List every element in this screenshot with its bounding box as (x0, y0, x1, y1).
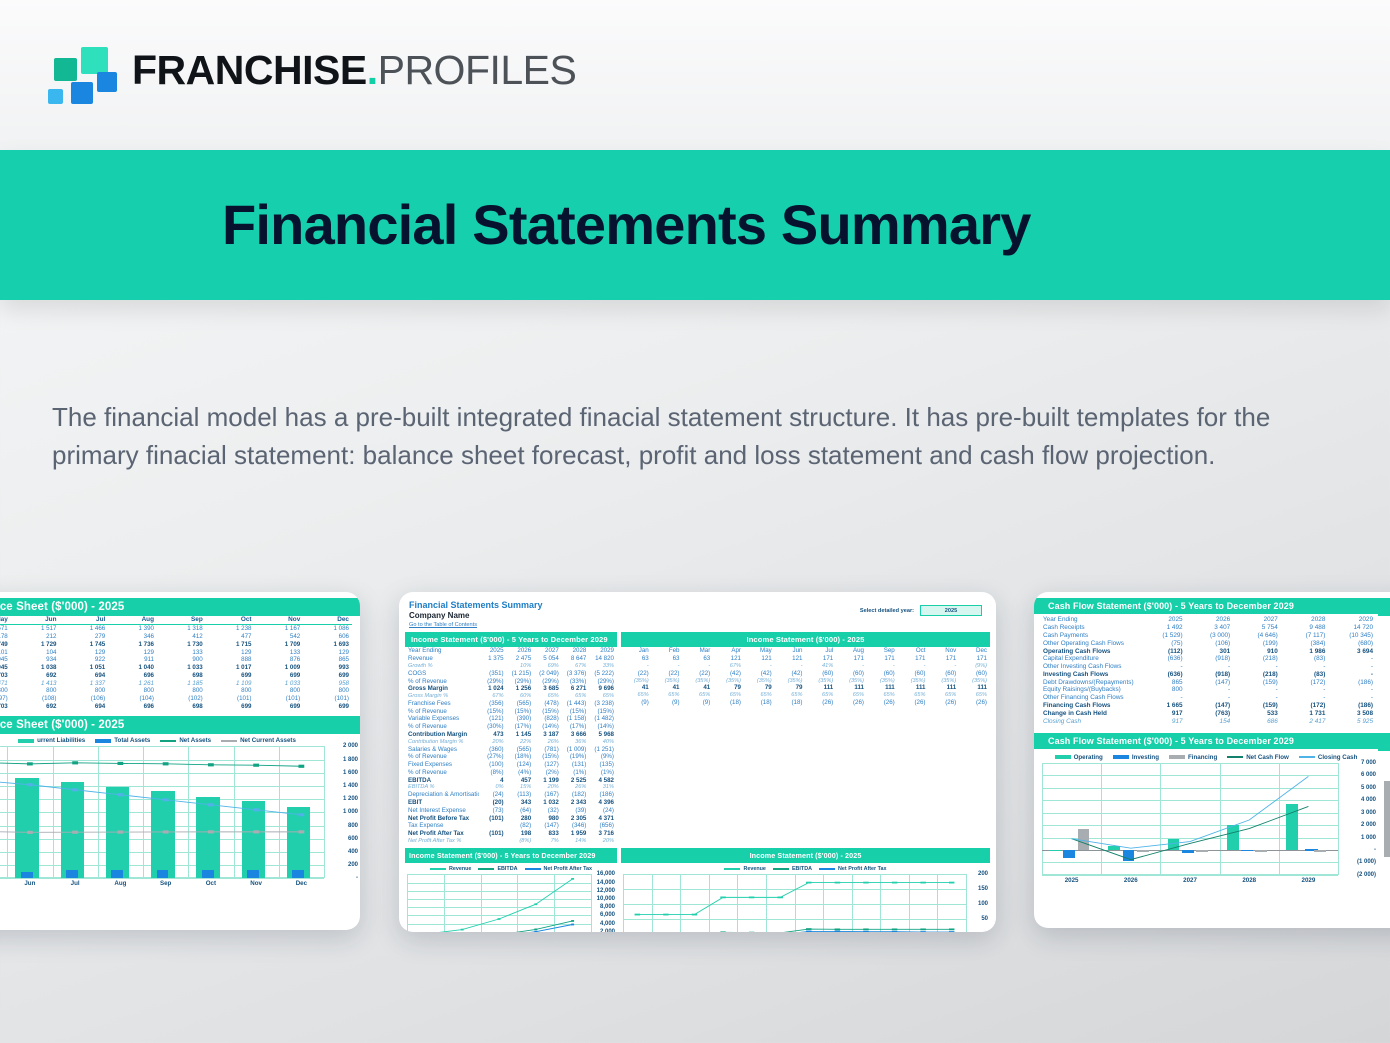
cell: 2 343 (562, 799, 590, 807)
col-header: Sep (157, 616, 206, 624)
cell: 533 (1233, 709, 1281, 717)
cell: 41 (683, 684, 714, 692)
cell: 171 (867, 655, 898, 663)
y-tick-label: 1 000 (1361, 835, 1376, 841)
is-left-chart-legend: RevenueEBITDANet Profit After Tax (405, 863, 617, 874)
marker (806, 928, 811, 930)
y-tick-label: 200 (348, 862, 358, 868)
marker (27, 784, 33, 787)
row-label: COGS (405, 669, 479, 677)
cell: (30%) (479, 723, 507, 731)
marker (208, 804, 214, 807)
x-tick-label: 2028 (1220, 877, 1279, 884)
cell: 917 (1138, 709, 1186, 717)
marker (208, 764, 214, 767)
cell: (60) (806, 669, 837, 677)
cell: 104 (11, 648, 60, 656)
cell: 5 968 (589, 731, 617, 739)
marker (534, 931, 537, 932)
marker (777, 897, 782, 899)
cell: 833 (534, 830, 562, 838)
cell: 20% (589, 838, 617, 845)
table-row: (9)(9)(9)(18)(18)(18)(26)(26)(26)(26)(26… (621, 698, 990, 706)
cell: - (1328, 670, 1376, 678)
cell: 699 (255, 671, 304, 679)
cell: - (1281, 694, 1329, 702)
marker (27, 763, 33, 766)
marker (892, 931, 897, 932)
marker (163, 799, 169, 802)
cell: (106) (1186, 639, 1234, 647)
cell: (390) (507, 715, 535, 723)
cell: (565) (507, 745, 535, 753)
cash-flow-card[interactable]: Cash Flow Statement ($'000) - 5 Years to… (1034, 592, 1390, 928)
cell: (121) (479, 715, 507, 723)
cell: (29%) (479, 677, 507, 685)
marker (72, 762, 78, 765)
cell: May (744, 647, 775, 655)
table-row: 1 731 (1376, 709, 1390, 717)
cell: - (1328, 663, 1376, 671)
legend-item: Net Profit After Tax (819, 866, 887, 872)
col-header: Jun (11, 616, 60, 624)
cell: 888 (206, 656, 255, 664)
cell: 3 716 (589, 830, 617, 838)
cell: (147) (1186, 702, 1234, 710)
cell: - (1281, 663, 1329, 671)
cell: 1 959 (562, 830, 590, 838)
table-row: EBITDA %0%15%20%26%31% (405, 784, 617, 791)
cell: 41 (652, 684, 683, 692)
page-header: FRANCHISE.PROFILES (0, 0, 1390, 150)
cell: (19%) (562, 753, 590, 761)
row-label: Operating Cash Flows (1040, 647, 1138, 655)
cell: (1%) (589, 769, 617, 777)
cell: 694 (60, 703, 109, 711)
cell: - (683, 663, 714, 670)
row-label: Other Financing Cash Flows (1040, 694, 1138, 702)
x-tick-label: 2025 (1042, 877, 1101, 884)
cell: (18%) (507, 753, 535, 761)
cell: (7) (1376, 639, 1390, 647)
cell: 699 (206, 703, 255, 711)
cell: 2028 (1281, 616, 1329, 624)
row-label: Debt Drawdowns/(Repayments) (1040, 678, 1138, 686)
cell: 111 (898, 684, 929, 692)
cell: 910 (1233, 647, 1281, 655)
cell: 121 (713, 655, 744, 663)
table-row: Net Interest Expense(73)(64)(32)(39)(24) (405, 806, 617, 814)
cell: 699 (206, 671, 255, 679)
table-row: Capital Expenditure(636)(918)(218)(83)- (1040, 655, 1376, 663)
cell: (15%) (589, 707, 617, 715)
table-row: EBIT(20)3431 0322 3434 396 (405, 799, 617, 807)
cell: (4 646) (1233, 632, 1281, 640)
table-row: Variable Expenses(121)(390)(828)(1 158)(… (405, 715, 617, 723)
cell: 4 396 (589, 799, 617, 807)
balance-sheet-table: MayJunJulAugSepOctNovDec1 5711 5171 4661… (0, 616, 352, 710)
table-row: 703692694696698699699699 (0, 671, 352, 679)
cell: (356) (479, 699, 507, 707)
cell: Jun (775, 647, 806, 655)
cell: 65% (836, 692, 867, 699)
cell: 343 (507, 799, 535, 807)
cell: (3 000) (1186, 632, 1234, 640)
cell: 1 009 (255, 664, 304, 672)
cell: 989 (1376, 678, 1390, 686)
table-row: JanFebMarAprMayJunJulAugSepOctNovDec (621, 647, 990, 655)
cell: (32) (534, 806, 562, 814)
cell: 14% (562, 838, 590, 845)
cell: (763) (1186, 709, 1234, 717)
marker (863, 929, 868, 931)
line-series (637, 883, 951, 915)
cell: 65% (652, 692, 683, 699)
line-series (1072, 806, 1309, 859)
table-row: 178212279346412477542606 (0, 633, 352, 641)
balance-sheet-card[interactable]: Balance Sheet ($'000) - 2025 MayJunJulAu… (0, 592, 360, 930)
cell: (35%) (621, 677, 652, 684)
marker (498, 918, 501, 920)
table-row: 101104129129133129133129 (0, 648, 352, 656)
table-row: 1 4711 4131 3371 2611 1851 1091 033958 (0, 679, 352, 687)
cell: 79 (713, 684, 744, 692)
cell: 5 925 (1328, 717, 1376, 725)
row-label: Variable Expenses (405, 715, 479, 723)
cell: 14 820 (589, 655, 617, 663)
col-header: Nov (255, 616, 304, 624)
cell: 63 (683, 655, 714, 663)
cell: (1 251) (589, 745, 617, 753)
table-row: Gross Margin1 0241 2563 6856 2719 696 (405, 685, 617, 693)
cell: (47) (1376, 632, 1390, 640)
select-year-value[interactable]: 2025 (920, 605, 982, 616)
table-row: Tax Expense(82)(147)(346)(656) (405, 822, 617, 830)
table-row: 800 (1376, 686, 1390, 694)
cf-table-title: Cash Flow Statement ($'000) - 5 Years to… (1034, 598, 1378, 614)
table-row: Equity Raisings/(Buybacks)800---- (1040, 686, 1376, 694)
cell: 1 492 (1138, 624, 1186, 632)
cell: 65% (589, 693, 617, 700)
table-row: Other Investing Cash Flows----- (1040, 663, 1376, 671)
cell: 917 (1138, 717, 1186, 725)
cell: 2028 (562, 647, 590, 655)
cell: 606 (303, 633, 352, 641)
is-toc-link[interactable]: Go to the Table of Contents (409, 622, 996, 628)
is-right-chart-legend: RevenueEBITDANet Profit After Tax (621, 863, 990, 874)
table-row: Operating Cash Flows(112)3019101 9863 69… (1040, 647, 1376, 655)
cell: 1 032 (534, 799, 562, 807)
marker (835, 882, 840, 884)
is-left-chart: (2,000)-2,0004,0006,0008,00010,00012,000… (405, 874, 617, 932)
cell: (60) (929, 669, 960, 677)
marker (571, 924, 574, 926)
x-tick-label: Oct (188, 880, 233, 887)
cell: (9%) (589, 753, 617, 761)
is-right-title: Income Statement ($'000) - 2025 (621, 632, 990, 647)
table-row: Other Financing Cash Flows----- (1040, 694, 1376, 702)
cell: 1 745 (60, 640, 109, 648)
table-row: Closing Cash9171546862 4175 925 (1040, 717, 1376, 725)
table-row: ---67%--41%----(9%) (621, 663, 990, 670)
income-statement-monthly-table: JanFebMarAprMayJunJulAugSepOctNovDec6363… (621, 647, 990, 706)
cell: 2026 (1186, 616, 1234, 624)
cell: 703 (0, 671, 11, 679)
select-detailed-year[interactable]: Select detailed year: 2025 (860, 605, 982, 616)
marker (920, 882, 925, 884)
cell: (135) (589, 761, 617, 769)
table-row: Year Ending20252026202720282029 (405, 647, 617, 655)
cell: - (1233, 663, 1281, 671)
cell: (113) (507, 791, 535, 799)
cell: 699 (255, 703, 304, 711)
cell: (478) (534, 699, 562, 707)
cell: (35%) (744, 677, 775, 684)
cell: 1 051 (60, 664, 109, 672)
cell: (172) (1281, 678, 1329, 686)
cell: 2025 (1138, 616, 1186, 624)
cell: 5 054 (534, 655, 562, 663)
cell: 1 033 (157, 664, 206, 672)
table-row: (7) (1376, 639, 1390, 647)
cell: (26) (898, 698, 929, 706)
table-row: 32 (1376, 624, 1390, 632)
cell: 65% (744, 692, 775, 699)
cell: (14%) (534, 723, 562, 731)
cell: 1 466 (60, 624, 109, 632)
row-label: Capital Expenditure (1040, 655, 1138, 663)
marker (298, 765, 304, 768)
table-row: 1 5711 5171 4661 3901 3181 2381 1671 086 (0, 624, 352, 632)
cell: 2029 (589, 647, 617, 655)
col-header: Dec (303, 616, 352, 624)
cell: 1 517 (11, 624, 60, 632)
cell: 1 167 (255, 624, 304, 632)
table-row: % of Revenue(29%)(29%)(29%)(33%)(29%) (405, 677, 617, 685)
cell: (15%) (479, 707, 507, 715)
y-tick-label: 6 000 (1361, 772, 1376, 778)
x-tick-label: Sep (143, 880, 188, 887)
cell: 63 (652, 655, 683, 663)
cell: (351) (479, 669, 507, 677)
body-paragraph: The financial model has a pre-built inte… (52, 398, 1332, 474)
cell: (35%) (806, 677, 837, 684)
cell: - (1328, 655, 1376, 663)
table-row: Salaries & Wages(360)(565)(781)(1 009)(1… (405, 745, 617, 753)
cell: 301 (1186, 647, 1234, 655)
cell: 800 (303, 687, 352, 695)
cell: (199) (1233, 639, 1281, 647)
bs-table-title: Balance Sheet ($'000) - 2025 (0, 598, 360, 616)
cell: 9 488 (1281, 624, 1329, 632)
y-tick-label: 800 (348, 823, 358, 829)
cell: - (1328, 694, 1376, 702)
cell: (360) (479, 745, 507, 753)
cell: 2029 (1328, 616, 1376, 624)
cell: 65% (534, 693, 562, 700)
cell: - (1376, 663, 1390, 671)
cell: Jan (621, 647, 652, 655)
row-label: Year Ending (1040, 616, 1138, 624)
cell: (26) (836, 698, 867, 706)
income-statement-5yr-table: Year Ending20252026202720282029Revenue1 … (405, 647, 617, 844)
cell: 121 (775, 655, 806, 663)
row-label: EBITDA % (405, 784, 479, 791)
marker (298, 814, 304, 817)
cell: 6 271 (562, 685, 590, 693)
cell: Aug (836, 647, 867, 655)
x-tick-label: 2029 (1279, 877, 1338, 884)
cell: 1 665 (1138, 702, 1186, 710)
cell: 1 199 (534, 776, 562, 784)
legend-item: Investing (1113, 754, 1159, 761)
cell: 111 (836, 684, 867, 692)
cell: (39) (562, 806, 590, 814)
legend-item: Total Assets (95, 737, 150, 744)
y-tick-label: 4 000 (1361, 797, 1376, 803)
cell: 1 024 (479, 685, 507, 693)
cell: 111 (959, 684, 990, 692)
table-row: % of Revenue(8%)(4%)(2%)(1%)(1%) (405, 769, 617, 777)
cell: (29%) (589, 677, 617, 685)
cell: 129 (303, 648, 352, 656)
cell: 20% (479, 738, 507, 745)
cell: 980 (534, 814, 562, 822)
cell: (35%) (836, 677, 867, 684)
cell: 1 730 (157, 640, 206, 648)
cell: 1 390 (108, 624, 157, 632)
cell: 1 086 (303, 624, 352, 632)
cell: - (836, 663, 867, 670)
y-tick-label: 14,000 (597, 880, 615, 886)
table-row: (22)(22)(22)(42)(42)(42)(60)(60)(60)(60)… (621, 669, 990, 677)
cell: 699 (303, 703, 352, 711)
cell: (27%) (479, 753, 507, 761)
cell: 900 (157, 656, 206, 664)
cell: (918) (1186, 655, 1234, 663)
legend-item: Net Cash Flow (1227, 754, 1289, 761)
marker (806, 931, 811, 932)
x-tick-label: Nov (234, 880, 279, 887)
cell: (147) (1186, 678, 1234, 686)
table-row: Franchise Fees(356)(565)(478)(1 443)(3 2… (405, 699, 617, 707)
table-row: Other Operating Cash Flows(75)(106)(199)… (1040, 639, 1376, 647)
income-statement-card[interactable]: Financial Statements Summary Company Nam… (399, 592, 996, 932)
legend-item: Net Current Assets (221, 737, 296, 744)
cell: - (929, 663, 960, 670)
cell: 698 (157, 703, 206, 711)
table-row: Year Ending20252026202720282029 (1040, 616, 1376, 624)
cell: 178 (0, 633, 11, 641)
cell: (15%) (534, 753, 562, 761)
cell: (1 529) (1138, 632, 1186, 640)
cell: 457 (507, 776, 535, 784)
cell: 65% (562, 693, 590, 700)
y-tick-label: 100 (978, 901, 988, 907)
cell: (101) (303, 695, 352, 703)
y-tick-label: 3 000 (1361, 810, 1376, 816)
cell: (218) (1233, 655, 1281, 663)
table-row: - (1376, 694, 1390, 702)
cell: - (1281, 686, 1329, 694)
cell: (15%) (507, 707, 535, 715)
y-tick-label: 400 (348, 849, 358, 855)
table-row: Contribution Margin %20%22%26%36%40% (405, 738, 617, 745)
cell: (29%) (507, 677, 535, 685)
cell: Jan (1376, 616, 1390, 624)
cell: 2026 (507, 647, 535, 655)
bs-chart: -2004006008001 0001 2001 4001 6001 8002 … (0, 746, 360, 887)
cell: (159) (1233, 702, 1281, 710)
brand-name-bold: FRANCHISE (132, 47, 367, 93)
table-row: EBITDA44571 1992 5254 582 (405, 776, 617, 784)
cell: (22) (652, 669, 683, 677)
row-label: Cash Receipts (1040, 624, 1138, 632)
cell: (18) (775, 698, 806, 706)
cell: (22) (683, 669, 714, 677)
bs-chart-title: Balance Sheet ($'000) - 2025 (0, 716, 360, 734)
cell: 4 (479, 776, 507, 784)
row-label: Growth % (405, 663, 479, 670)
cell: (636) (1138, 655, 1186, 663)
cell: 65% (898, 692, 929, 699)
table-row: 703692694696698699699699 (0, 703, 352, 711)
cell: 280 (507, 814, 535, 822)
cell: - (775, 663, 806, 670)
cell: 154 (1186, 717, 1234, 725)
marker (835, 929, 840, 931)
cell: (9) (621, 698, 652, 706)
legend-item: EBITDA (478, 866, 517, 872)
cell: 346 (108, 633, 157, 641)
cell: 694 (60, 671, 109, 679)
cell: (20) (479, 799, 507, 807)
cell: (36) (1376, 670, 1390, 678)
cell: (22) (621, 669, 652, 677)
cell: (101) (255, 695, 304, 703)
x-tick-label: 2026 (1101, 877, 1160, 884)
cell: 542 (255, 633, 304, 641)
cell: 876 (255, 656, 304, 664)
cell: (100) (479, 761, 507, 769)
cell: 65% (775, 692, 806, 699)
marker (117, 831, 123, 834)
legend-item: urrent Liabilities (18, 737, 85, 744)
cell: 1 261 (108, 679, 157, 687)
table-row: Change in Cash Held917(763)5331 7313 508 (1040, 709, 1376, 717)
marker (806, 882, 811, 884)
legend-item: Closing Cash (1299, 754, 1358, 761)
cell: 7% (534, 838, 562, 845)
marker (534, 904, 537, 906)
cf-jan-financing-bar (1384, 781, 1390, 857)
cell (479, 838, 507, 845)
cell: (112) (1138, 647, 1186, 655)
cell: 1 715 (206, 640, 255, 648)
cell: 10% (507, 663, 535, 670)
y-tick-label: 4,000 (600, 921, 615, 927)
table-row: Contribution Margin4731 1453 1873 6665 9… (405, 731, 617, 739)
cell: 1 709 (255, 640, 304, 648)
cell: (781) (534, 745, 562, 753)
marker (892, 929, 897, 931)
cf-chart-legend: OperatingInvestingFinancingNet Cash Flow… (1034, 751, 1378, 763)
brand-dot: . (367, 47, 378, 93)
cell: 696 (108, 671, 157, 679)
line-series (637, 929, 951, 932)
row-label: Net Profit After Tax % (405, 838, 479, 845)
cell: (2%) (534, 769, 562, 777)
